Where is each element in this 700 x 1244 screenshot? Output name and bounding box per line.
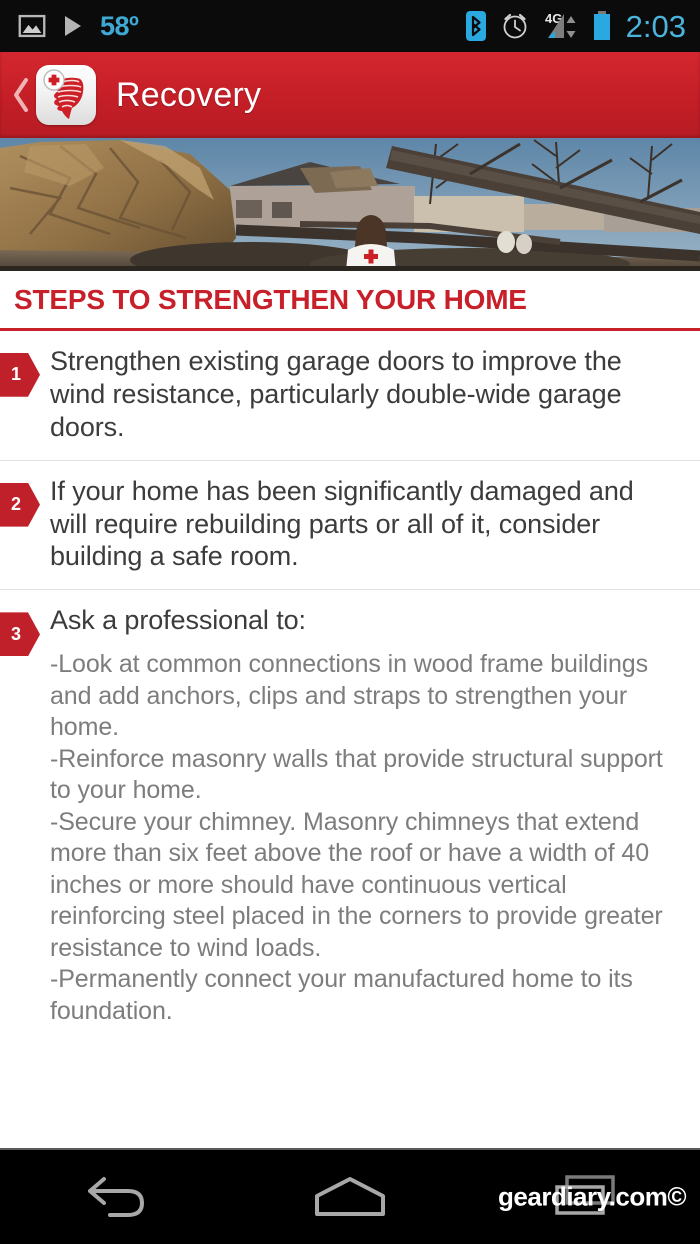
- bluetooth-icon: [466, 10, 486, 42]
- steps-list: 1 Strengthen existing garage doors to im…: [0, 331, 700, 1148]
- play-arrow-icon: [62, 14, 84, 38]
- step-text: Strengthen existing garage doors to impr…: [50, 345, 678, 444]
- phone-screen: 58º 4G: [0, 0, 700, 1244]
- section-heading: STEPS TO STRENGTHEN YOUR HOME: [0, 271, 700, 331]
- step-item[interactable]: 2 If your home has been significantly da…: [0, 461, 700, 591]
- alarm-clock-icon: [500, 11, 530, 41]
- status-bar: 58º 4G: [0, 0, 700, 52]
- app-bar: Recovery: [0, 52, 700, 138]
- battery-icon: [592, 10, 612, 42]
- page-title: STEPS TO STRENGTHEN YOUR HOME: [14, 285, 700, 316]
- 4g-signal-icon: 4G: [544, 10, 578, 42]
- step-item[interactable]: 3 Ask a professional to: -Look at common…: [0, 590, 700, 1043]
- step-text: Ask a professional to:: [50, 604, 678, 637]
- recents-nav-icon[interactable]: [508, 1150, 658, 1244]
- temperature-text: 58º: [100, 13, 138, 40]
- step-text: If your home has been significantly dama…: [50, 475, 678, 574]
- step-number-badge: 3: [0, 612, 40, 656]
- hero-illustration: [0, 138, 700, 271]
- back-nav-icon[interactable]: [42, 1150, 192, 1244]
- step-number-badge: 1: [0, 353, 40, 397]
- back-chevron-icon[interactable]: [8, 76, 34, 114]
- step-number-badge: 2: [0, 483, 40, 527]
- clock-text: 2:03: [626, 11, 686, 42]
- hero-image: [0, 138, 700, 271]
- system-nav-bar: geardiary.com©: [0, 1148, 700, 1244]
- home-nav-icon[interactable]: [275, 1150, 425, 1244]
- step-item[interactable]: 1 Strengthen existing garage doors to im…: [0, 331, 700, 461]
- red-cross-tornado-app-icon[interactable]: [36, 65, 96, 125]
- step-sub-text: -Look at common connections in wood fram…: [50, 649, 678, 1027]
- status-bar-left: 58º: [18, 12, 138, 40]
- status-bar-right: 4G 2:03: [466, 10, 686, 42]
- gallery-image-icon: [18, 12, 46, 40]
- app-bar-title: Recovery: [116, 76, 261, 115]
